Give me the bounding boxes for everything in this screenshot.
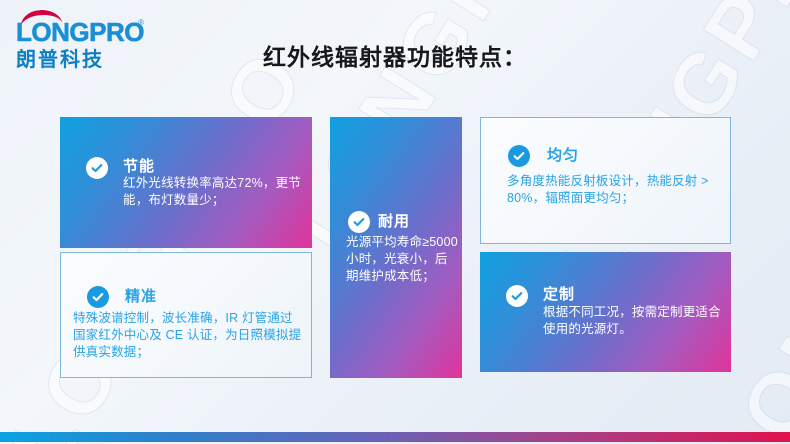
check-circle-icon bbox=[87, 286, 109, 308]
feature-card-precise: 精准 特殊波谱控制，波长准确，IR 灯管通过国家红外中心及 CE 认证，为日照模… bbox=[60, 252, 312, 378]
feature-card-body: 多角度热能反射板设计，热能反射 > 80%，辐照面更均匀； bbox=[507, 173, 722, 207]
feature-card-title: 节能 bbox=[123, 155, 155, 176]
feature-card-custom: 定制 根据不同工况，按需定制更适合使用的光源灯。 bbox=[480, 252, 731, 372]
feature-card-body: 特殊波谱控制，波长准确，IR 灯管通过国家红外中心及 CE 认证，为日照模拟提供… bbox=[73, 310, 303, 361]
feature-card-uniform: 均匀 多角度热能反射板设计，热能反射 > 80%，辐照面更均匀； bbox=[480, 117, 731, 244]
feature-card-durable: 耐用 光源平均寿命≥5000 小时，光衰小，后期维护成本低； bbox=[330, 117, 462, 378]
check-circle-icon bbox=[86, 157, 108, 179]
check-circle-icon bbox=[348, 211, 370, 233]
logo-registered-mark: ® bbox=[138, 18, 144, 27]
watermark-text: LONGPRO bbox=[690, 51, 790, 444]
feature-card-body: 根据不同工况，按需定制更适合使用的光源灯。 bbox=[543, 304, 728, 338]
slide-canvas: LONGPRO LONGPRO LONGPRO LONGPRO LONGPRO … bbox=[0, 0, 790, 444]
bottom-accent-bar bbox=[0, 432, 790, 442]
feature-card-title: 定制 bbox=[543, 283, 575, 304]
check-circle-icon bbox=[506, 285, 528, 307]
page-title: 红外线辐射器功能特点： bbox=[0, 38, 790, 72]
feature-card-energy: 节能 红外光线转换率高达72%，更节能，布灯数量少； bbox=[60, 117, 312, 248]
feature-card-body: 红外光线转换率高达72%，更节能，布灯数量少； bbox=[123, 175, 303, 209]
feature-card-body: 光源平均寿命≥5000 小时，光衰小，后期维护成本低； bbox=[346, 234, 458, 285]
feature-card-title: 精准 bbox=[125, 285, 157, 306]
check-circle-icon bbox=[508, 145, 530, 167]
feature-card-title: 耐用 bbox=[378, 210, 410, 231]
feature-card-title: 均匀 bbox=[547, 144, 579, 165]
